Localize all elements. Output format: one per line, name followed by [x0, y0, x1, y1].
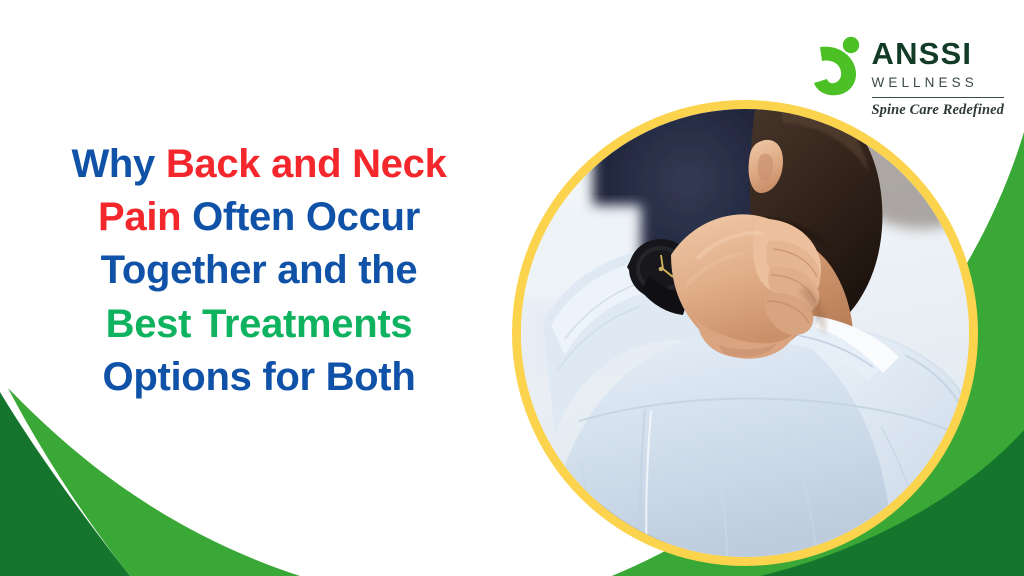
headline-seg: Together and the — [101, 248, 418, 292]
logo-divider — [872, 97, 1005, 98]
hero-photo — [521, 109, 969, 557]
headline-seg: Why — [71, 142, 165, 186]
headline-seg: Back and Neck — [166, 142, 447, 186]
swoosh-bottom-left-dark — [0, 392, 130, 576]
hero-photo-ring — [512, 100, 978, 566]
swoosh-bottom-left-light — [8, 388, 300, 576]
logo-name: ANSSI — [872, 38, 1005, 69]
headline-line-5: Options for Both — [14, 351, 504, 404]
headline-seg: Best Treatments — [106, 302, 413, 346]
anssi-arc-dot-logo-icon — [810, 36, 862, 98]
hero-photo-illustration — [521, 109, 969, 557]
headline-seg: Options for Both — [103, 355, 416, 399]
logo-subname: WELLNESS — [872, 76, 1005, 90]
banner-canvas: Why Back and Neck Pain Often Occur Toget… — [0, 0, 1024, 576]
logo-wordmark: ANSSI WELLNESS Spine Care Redefined — [872, 34, 1005, 117]
brand-logo[interactable]: ANSSI WELLNESS Spine Care Redefined — [810, 34, 1005, 117]
headline: Why Back and Neck Pain Often Occur Toget… — [14, 138, 504, 404]
headline-line-1: Why Back and Neck — [14, 138, 504, 191]
headline-line-2: Pain Often Occur — [14, 191, 504, 244]
headline-line-3: Together and the — [14, 244, 504, 297]
headline-seg: Pain — [98, 195, 192, 239]
logo-tagline: Spine Care Redefined — [872, 103, 1005, 118]
headline-line-4: Best Treatments — [14, 298, 504, 351]
headline-seg: Often Occur — [192, 195, 420, 239]
